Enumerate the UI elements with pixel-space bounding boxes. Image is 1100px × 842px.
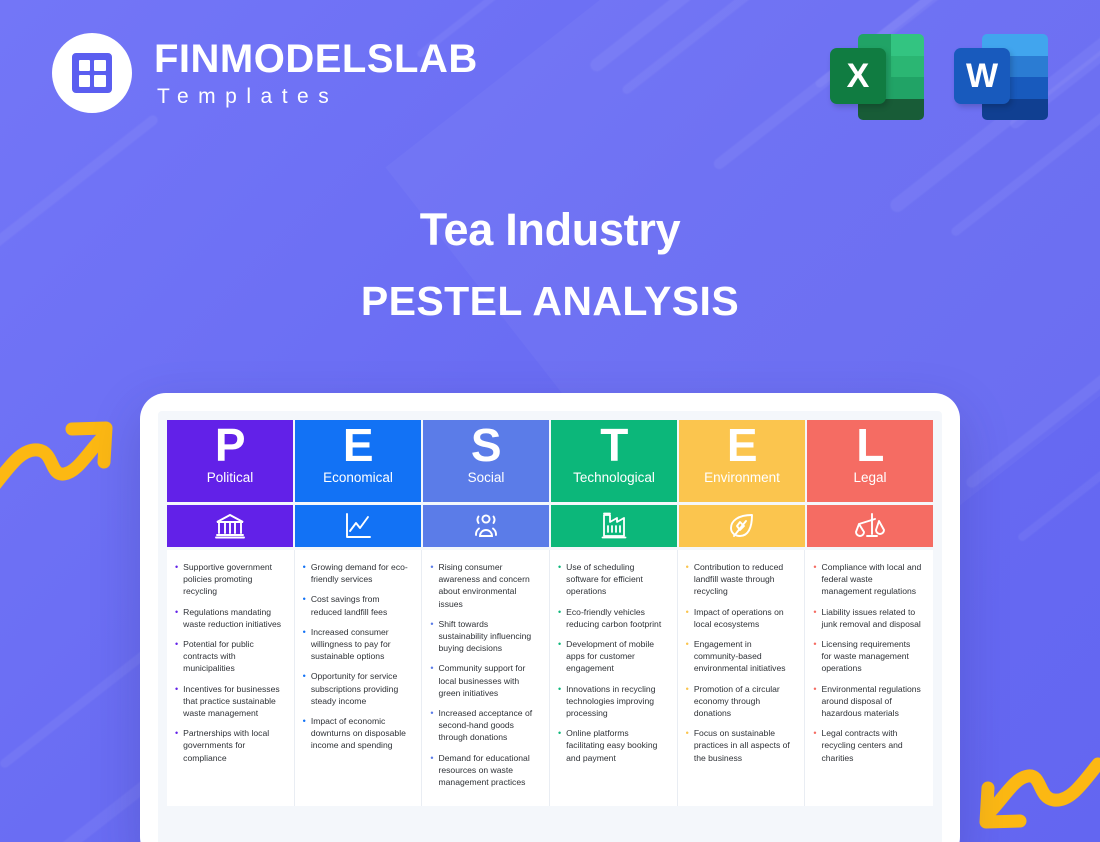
bullet-item: •Contribution to reduced landfill waste … — [686, 561, 794, 598]
bullet-text: Eco-friendly vehicles reducing carbon fo… — [566, 606, 666, 630]
pestel-header-legal[interactable]: L Legal — [807, 420, 933, 502]
grid-logo-icon — [52, 33, 132, 113]
bullet-text: Community support for local businesses w… — [438, 662, 538, 699]
bullet-item: •Growing demand for eco-friendly service… — [303, 561, 411, 585]
pestel-table: P Political E Economical S Social T Tech… — [167, 420, 933, 806]
bullet-dot-icon: • — [813, 683, 816, 720]
bullet-text: Cost savings from reduced landfill fees — [311, 593, 411, 617]
bullet-text: Innovations in recycling technologies im… — [566, 683, 666, 720]
bullet-dot-icon: • — [558, 638, 561, 675]
bullet-dot-icon: • — [303, 626, 306, 663]
bullet-column-social: •Rising consumer awareness and concern a… — [422, 550, 550, 806]
bullet-text: Licensing requirements for waste managem… — [821, 638, 922, 675]
bullet-column-political: •Supportive government policies promotin… — [167, 550, 295, 806]
bullet-text: Online platforms facilitating easy booki… — [566, 727, 666, 764]
excel-badge-letter: X — [830, 48, 886, 104]
bullet-dot-icon: • — [813, 638, 816, 675]
bullet-item: •Impact of economic downturns on disposa… — [303, 715, 411, 752]
pestel-letter: L — [856, 422, 884, 469]
bullet-item: •Use of scheduling software for efficien… — [558, 561, 666, 598]
bullet-item: •Liability issues related to junk remova… — [813, 606, 922, 630]
device-frame: P Political E Economical S Social T Tech… — [140, 393, 960, 842]
bullet-item: •Impact of operations on local ecosystem… — [686, 606, 794, 630]
leaf-icon — [679, 505, 805, 547]
word-badge-letter: W — [954, 48, 1010, 104]
bullet-item: •Eco-friendly vehicles reducing carbon f… — [558, 606, 666, 630]
bullet-dot-icon: • — [558, 683, 561, 720]
pestel-header-environment[interactable]: E Environment — [679, 420, 805, 502]
pestel-header-social[interactable]: S Social — [423, 420, 549, 502]
bullet-item: •Promotion of a circular economy through… — [686, 683, 794, 720]
pestel-label: Environment — [704, 470, 780, 485]
bullet-text: Growing demand for eco-friendly services — [311, 561, 411, 585]
bullet-dot-icon: • — [303, 561, 306, 585]
page-subtitle: PESTEL ANALYSIS — [0, 278, 1100, 325]
factory-industry-icon — [551, 505, 677, 547]
bullet-item: •Licensing requirements for waste manage… — [813, 638, 922, 675]
bullet-dot-icon: • — [175, 606, 178, 630]
brand-text: FINMODELSLAB Templates — [154, 39, 478, 107]
pestel-header-technological[interactable]: T Technological — [551, 420, 677, 502]
bullet-dot-icon: • — [303, 715, 306, 752]
bullet-text: Legal contracts with recycling centers a… — [821, 727, 922, 764]
pestel-label: Technological — [573, 470, 655, 485]
bullet-item: •Increased acceptance of second-hand goo… — [430, 707, 538, 744]
bullet-item: •Innovations in recycling technologies i… — [558, 683, 666, 720]
bullet-text: Regulations mandating waste reduction in… — [183, 606, 283, 630]
office-format-icons: X W — [830, 28, 1048, 120]
bullet-item: •Partnerships with local governments for… — [175, 727, 283, 764]
bullet-dot-icon: • — [175, 727, 178, 764]
bullet-dot-icon: • — [686, 683, 689, 720]
pestel-header-economical[interactable]: E Economical — [295, 420, 421, 502]
bullet-dot-icon: • — [175, 561, 178, 598]
bullet-column-environment: •Contribution to reduced landfill waste … — [678, 550, 806, 806]
bullet-dot-icon: • — [813, 727, 816, 764]
bullet-item: •Demand for educational resources on was… — [430, 752, 538, 789]
brand-tagline: Templates — [157, 86, 478, 107]
bullet-item: •Potential for public contracts with mun… — [175, 638, 283, 675]
bullet-text: Impact of economic downturns on disposab… — [311, 715, 411, 752]
bullet-dot-icon: • — [430, 561, 433, 610]
bullet-dot-icon: • — [303, 593, 306, 617]
bullet-text: Increased consumer willingness to pay fo… — [311, 626, 411, 663]
pestel-bullets-row: •Supportive government policies promotin… — [167, 550, 933, 806]
pestel-header-political[interactable]: P Political — [167, 420, 293, 502]
pestel-label: Legal — [853, 470, 886, 485]
bullet-text: Partnerships with local governments for … — [183, 727, 283, 764]
bullet-dot-icon: • — [430, 707, 433, 744]
bullet-item: •Shift towards sustainability influencin… — [430, 618, 538, 655]
page-title: Tea Industry — [0, 204, 1100, 256]
bullet-item: •Rising consumer awareness and concern a… — [430, 561, 538, 610]
scales-balance-icon — [807, 505, 933, 547]
bullet-dot-icon: • — [175, 683, 178, 720]
bullet-text: Impact of operations on local ecosystems — [694, 606, 794, 630]
bullet-dot-icon: • — [686, 638, 689, 675]
people-group-icon — [423, 505, 549, 547]
excel-icon[interactable]: X — [830, 28, 924, 120]
bullet-item: •Regulations mandating waste reduction i… — [175, 606, 283, 630]
pestel-letter: T — [600, 422, 628, 469]
bullet-text: Engagement in community-based environmen… — [694, 638, 794, 675]
squiggle-arrow-down-left-icon — [972, 752, 1100, 842]
bullet-text: Promotion of a circular economy through … — [694, 683, 794, 720]
bullet-item: •Environmental regulations around dispos… — [813, 683, 922, 720]
bullet-item: •Incentives for businesses that practice… — [175, 683, 283, 720]
bullet-item: •Community support for local businesses … — [430, 662, 538, 699]
pestel-label: Economical — [323, 470, 393, 485]
bullet-text: Focus on sustainable practices in all as… — [694, 727, 794, 764]
bank-institution-icon — [167, 505, 293, 547]
bullet-dot-icon: • — [686, 561, 689, 598]
bullet-item: •Focus on sustainable practices in all a… — [686, 727, 794, 764]
bullet-item: •Online platforms facilitating easy book… — [558, 727, 666, 764]
bullet-dot-icon: • — [175, 638, 178, 675]
bullet-item: •Development of mobile apps for customer… — [558, 638, 666, 675]
bullet-dot-icon: • — [558, 606, 561, 630]
bullet-dot-icon: • — [686, 727, 689, 764]
bullet-item: •Legal contracts with recycling centers … — [813, 727, 922, 764]
line-chart-icon — [295, 505, 421, 547]
pestel-icon-row — [167, 505, 933, 547]
bullet-dot-icon: • — [430, 662, 433, 699]
brand-name: FINMODELSLAB — [154, 39, 478, 79]
device-screen: P Political E Economical S Social T Tech… — [158, 411, 942, 842]
bullet-column-economical: •Growing demand for eco-friendly service… — [295, 550, 423, 806]
pestel-letter: E — [343, 422, 373, 469]
bullet-dot-icon: • — [813, 606, 816, 630]
bullet-text: Potential for public contracts with muni… — [183, 638, 283, 675]
bullet-dot-icon: • — [430, 752, 433, 789]
bullet-item: •Opportunity for service subscriptions p… — [303, 670, 411, 707]
bullet-item: •Supportive government policies promotin… — [175, 561, 283, 598]
title-block: Tea Industry PESTEL ANALYSIS — [0, 204, 1100, 325]
bullet-dot-icon: • — [303, 670, 306, 707]
bullet-text: Supportive government policies promoting… — [183, 561, 283, 598]
bullet-text: Rising consumer awareness and concern ab… — [438, 561, 538, 610]
bullet-item: •Engagement in community-based environme… — [686, 638, 794, 675]
bullet-column-technological: •Use of scheduling software for efficien… — [550, 550, 678, 806]
bullet-text: Use of scheduling software for efficient… — [566, 561, 666, 598]
bullet-dot-icon: • — [686, 606, 689, 630]
bullet-item: •Compliance with local and federal waste… — [813, 561, 922, 598]
bullet-item: •Cost savings from reduced landfill fees — [303, 593, 411, 617]
pestel-letter: P — [215, 422, 245, 469]
bullet-text: Demand for educational resources on wast… — [438, 752, 538, 789]
bullet-text: Compliance with local and federal waste … — [821, 561, 922, 598]
bullet-dot-icon: • — [813, 561, 816, 598]
bullet-text: Environmental regulations around disposa… — [821, 683, 922, 720]
bullet-text: Development of mobile apps for customer … — [566, 638, 666, 675]
pestel-letter: E — [727, 422, 757, 469]
pestel-label: Political — [207, 470, 254, 485]
bullet-text: Shift towards sustainability influencing… — [438, 618, 538, 655]
background-brush-stroke — [0, 639, 162, 769]
bullet-text: Opportunity for service subscriptions pr… — [311, 670, 411, 707]
bullet-dot-icon: • — [430, 618, 433, 655]
pestel-letter: S — [471, 422, 501, 469]
bullet-item: •Increased consumer willingness to pay f… — [303, 626, 411, 663]
pestel-header-row: P Political E Economical S Social T Tech… — [167, 420, 933, 502]
brand-logo[interactable]: FINMODELSLAB Templates — [52, 33, 478, 113]
bullet-dot-icon: • — [558, 727, 561, 764]
word-icon[interactable]: W — [954, 28, 1048, 120]
bullet-text: Liability issues related to junk removal… — [821, 606, 922, 630]
bullet-column-legal: •Compliance with local and federal waste… — [805, 550, 933, 806]
bullet-dot-icon: • — [558, 561, 561, 598]
squiggle-arrow-up-right-icon — [0, 408, 120, 498]
pestel-label: Social — [468, 470, 505, 485]
bullet-text: Increased acceptance of second-hand good… — [438, 707, 538, 744]
bullet-text: Incentives for businesses that practice … — [183, 683, 283, 720]
bullet-text: Contribution to reduced landfill waste t… — [694, 561, 794, 598]
